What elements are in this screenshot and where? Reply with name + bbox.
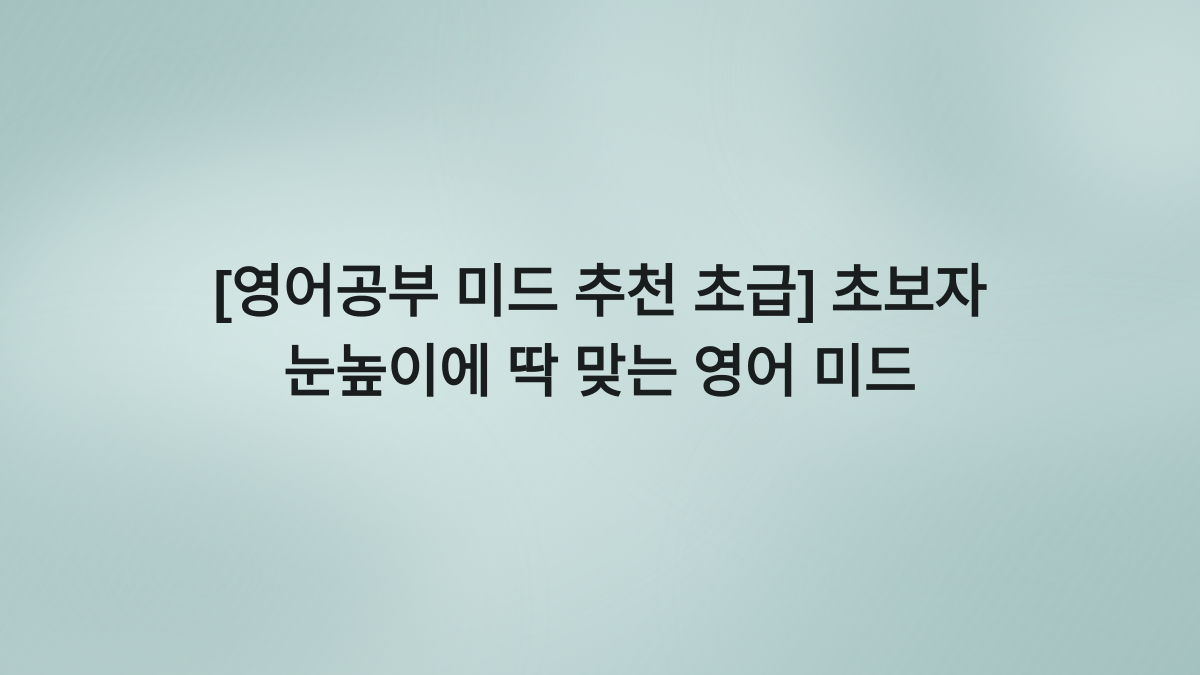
thumbnail-card: [영어공부 미드 추천 초급] 초보자 눈높이에 딱 맞는 영어 미드 [0,0,1200,675]
title-line-1: [영어공부 미드 추천 초급] 초보자 [213,252,987,332]
page-title: [영어공부 미드 추천 초급] 초보자 눈높이에 딱 맞는 영어 미드 [0,252,1200,412]
title-line-2: 눈높이에 딱 맞는 영어 미드 [284,332,917,412]
